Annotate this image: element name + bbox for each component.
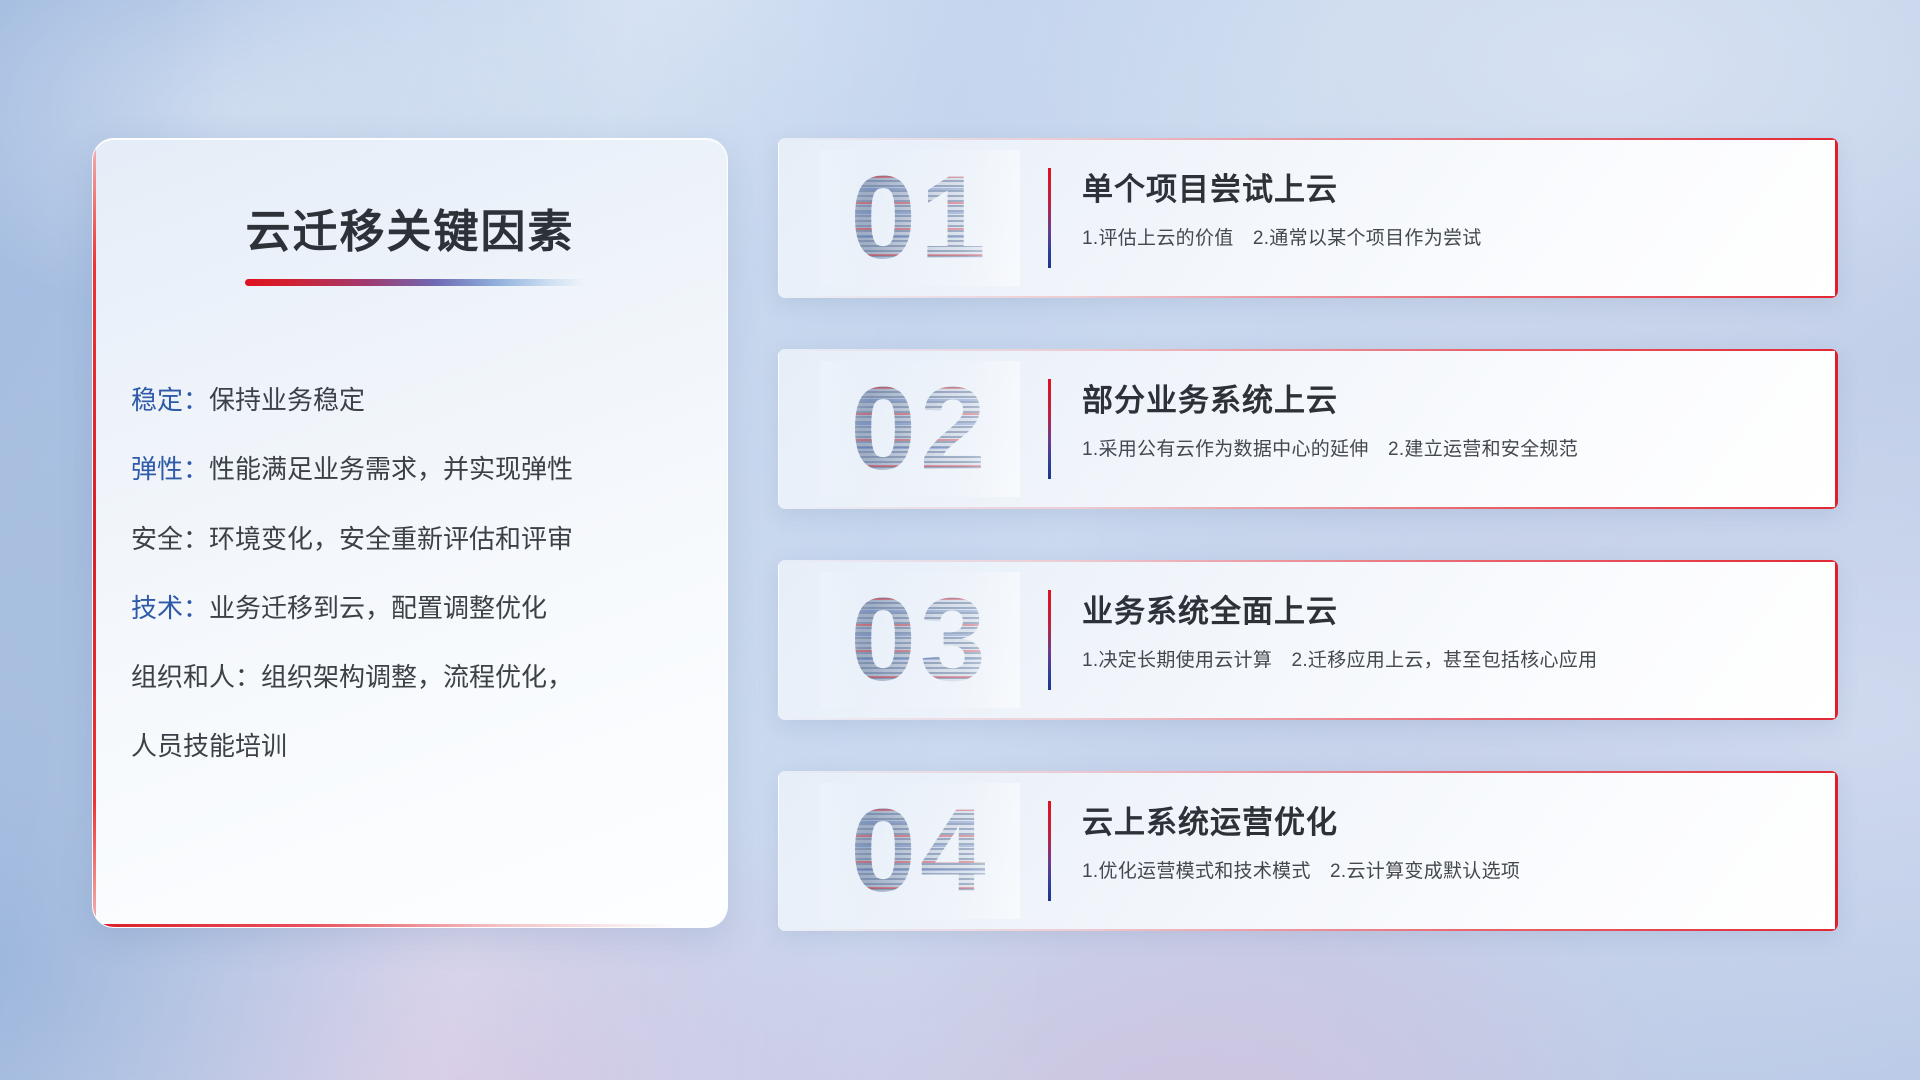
step-content: 云上系统运营优化 1.优化运营模式和技术模式 2.云计算变成默认选项 <box>1082 797 1798 883</box>
step-title: 单个项目尝试上云 <box>1082 164 1798 209</box>
list-item: 稳定：保持业务稳定 <box>131 384 707 417</box>
card-left-edge <box>778 771 779 931</box>
step-number-graphic: 01 01 <box>820 150 1020 286</box>
step-card-02[interactable]: 02 02 部分业务系统上云 1.采用公有云作为数据中心的延伸 2.建立运营和安… <box>778 349 1838 509</box>
step-divider <box>1048 379 1051 479</box>
step-number-accent: 03 <box>820 572 1020 708</box>
card-top-edge <box>778 138 1838 140</box>
step-number-accent: 04 <box>820 783 1020 919</box>
card-bottom-edge <box>778 507 1838 509</box>
list-item: 技术：业务迁移到云，配置调整优化 <box>131 592 707 625</box>
step-content: 单个项目尝试上云 1.评估上云的价值 2.通常以某个项目作为尝试 <box>1082 164 1798 250</box>
step-number-graphic: 02 02 <box>820 361 1020 497</box>
fact-label: 组织和人： <box>131 662 261 692</box>
step-content: 部分业务系统上云 1.采用公有云作为数据中心的延伸 2.建立运营和安全规范 <box>1082 375 1798 461</box>
fact-label: 稳定： <box>131 385 209 415</box>
card-right-edge <box>1835 771 1838 931</box>
step-divider <box>1048 801 1051 901</box>
page-title: 云迁移关键因素 <box>93 195 727 260</box>
fact-text: 性能满足业务需求，并实现弹性 <box>209 454 573 484</box>
key-factors-panel: 云迁移关键因素 稳定：保持业务稳定 弹性：性能满足业务需求，并实现弹性 安全：环… <box>92 138 728 928</box>
list-item: 人员技能培训 <box>131 730 707 763</box>
key-factors-list: 稳定：保持业务稳定 弹性：性能满足业务需求，并实现弹性 安全：环境变化，安全重新… <box>131 384 707 764</box>
step-subtitle: 1.决定长期使用云计算 2.迁移应用上云，甚至包括核心应用 <box>1082 645 1798 672</box>
list-item: 弹性：性能满足业务需求，并实现弹性 <box>131 453 707 486</box>
fact-text: 组织架构调整，流程优化， <box>261 662 573 692</box>
step-divider <box>1048 168 1051 268</box>
list-item: 安全：环境变化，安全重新评估和评审 <box>131 523 707 556</box>
fact-text: 保持业务稳定 <box>209 385 365 415</box>
step-title: 业务系统全面上云 <box>1082 586 1798 631</box>
card-right-edge <box>1835 138 1838 298</box>
step-title: 部分业务系统上云 <box>1082 375 1798 420</box>
step-subtitle: 1.优化运营模式和技术模式 2.云计算变成默认选项 <box>1082 856 1798 883</box>
step-title: 云上系统运营优化 <box>1082 797 1798 842</box>
fact-text: 人员技能培训 <box>131 731 287 761</box>
step-subtitle: 1.采用公有云作为数据中心的延伸 2.建立运营和安全规范 <box>1082 434 1798 461</box>
fact-text: 业务迁移到云，配置调整优化 <box>209 593 547 623</box>
card-left-edge <box>778 138 779 298</box>
card-right-edge <box>1835 349 1838 509</box>
card-top-edge <box>778 771 1838 773</box>
card-bottom-edge <box>778 718 1838 720</box>
step-content: 业务系统全面上云 1.决定长期使用云计算 2.迁移应用上云，甚至包括核心应用 <box>1082 586 1798 672</box>
step-divider <box>1048 590 1051 690</box>
card-top-edge <box>778 349 1838 351</box>
step-number-graphic: 04 04 <box>820 783 1020 919</box>
step-number-graphic: 03 03 <box>820 572 1020 708</box>
title-underline-rule <box>245 279 585 286</box>
step-number-accent: 01 <box>820 150 1020 286</box>
card-left-edge <box>778 560 779 720</box>
fact-text: 环境变化，安全重新评估和评审 <box>209 524 573 554</box>
step-card-04[interactable]: 04 04 云上系统运营优化 1.优化运营模式和技术模式 2.云计算变成默认选项 <box>778 771 1838 931</box>
card-left-edge <box>778 349 779 509</box>
migration-steps-list: 01 01 单个项目尝试上云 1.评估上云的价值 2.通常以某个项目作为尝试 0… <box>778 138 1838 931</box>
card-bottom-edge <box>778 296 1838 298</box>
step-card-03[interactable]: 03 03 业务系统全面上云 1.决定长期使用云计算 2.迁移应用上云，甚至包括… <box>778 560 1838 720</box>
card-bottom-edge <box>778 929 1838 931</box>
card-right-edge <box>1835 560 1838 720</box>
fact-label: 安全： <box>131 524 209 554</box>
card-top-edge <box>778 560 1838 562</box>
step-number-accent: 02 <box>820 361 1020 497</box>
fact-label: 弹性： <box>131 454 209 484</box>
fact-label: 技术： <box>131 593 209 623</box>
step-subtitle: 1.评估上云的价值 2.通常以某个项目作为尝试 <box>1082 223 1798 250</box>
list-item: 组织和人：组织架构调整，流程优化， <box>131 661 707 694</box>
step-card-01[interactable]: 01 01 单个项目尝试上云 1.评估上云的价值 2.通常以某个项目作为尝试 <box>778 138 1838 298</box>
